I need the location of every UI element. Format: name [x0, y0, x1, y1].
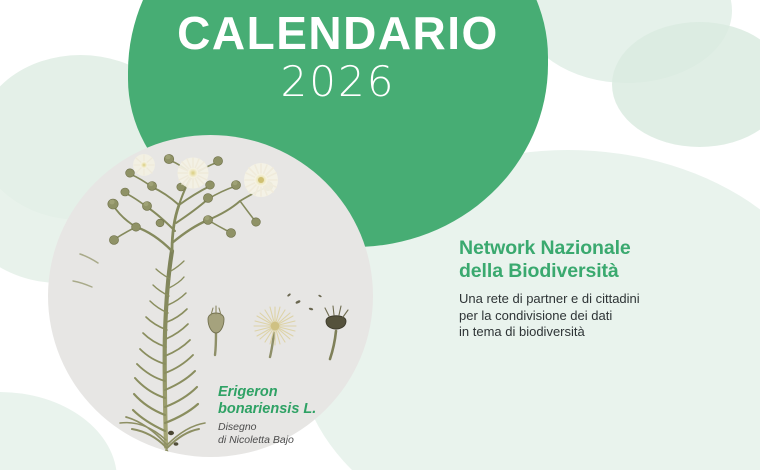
info-subtitle-line1: Una rete di partner e di cittadini [459, 291, 721, 308]
page-title: CALENDARIO [128, 0, 548, 59]
illustration-caption: Erigeron bonariensis L. Disegno di Nicol… [218, 384, 378, 446]
info-subtitle-line3: in tema di biodiversità [459, 324, 721, 341]
caption-species-line2: bonariensis L. [218, 401, 378, 418]
headline-group: CALENDARIO 2026 [128, 0, 548, 105]
calendar-cover-poster: CALENDARIO 2026 [0, 0, 760, 470]
info-block: Network Nazionale della Biodiversità Una… [459, 237, 721, 341]
info-heading-line1: Network Nazionale [459, 237, 721, 260]
caption-credit-line1: Disegno [218, 421, 378, 434]
info-heading-line2: della Biodiversità [459, 260, 721, 283]
caption-credit-line2: di Nicoletta Bajo [218, 434, 378, 447]
info-heading: Network Nazionale della Biodiversità [459, 237, 721, 282]
info-subtitle: Una rete di partner e di cittadini per l… [459, 291, 721, 341]
caption-species-line1: Erigeron [218, 384, 378, 401]
caption-species-name: Erigeron bonariensis L. [218, 384, 378, 418]
decorative-blob-right-upper [522, 0, 732, 83]
info-subtitle-line2: per la condivisione dei dati [459, 308, 721, 325]
decorative-blob-right-mid [612, 22, 760, 147]
caption-credit: Disegno di Nicoletta Bajo [218, 421, 378, 446]
calendar-year: 2026 [128, 59, 548, 105]
